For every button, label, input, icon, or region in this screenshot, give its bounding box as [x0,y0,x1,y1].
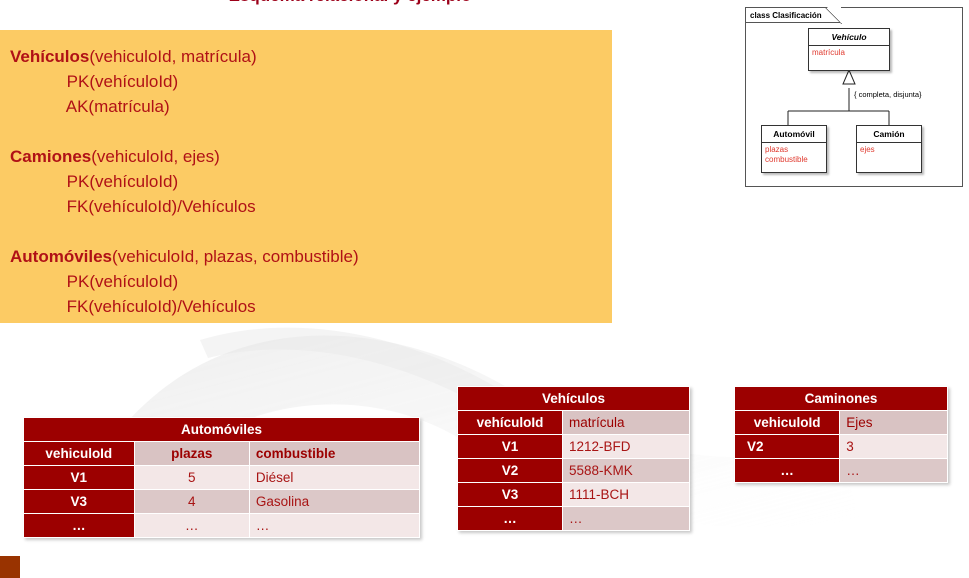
cell-value: … [563,507,689,530]
schema-line: PK(vehículoId) [10,69,612,94]
cell-value: 1111-BCH [563,483,689,506]
uml-class-attributes: matrícula [809,46,889,60]
table-row: V1 5 Diésel [24,466,419,489]
schema-line: Camiones(vehiculoId, ejes) [10,144,612,169]
cell-value: … [135,514,249,537]
cell-value: … [840,459,947,482]
table-header-row: vehiculoId plazas combustible [24,442,419,465]
uml-class-camion: Camión ejes [856,125,922,173]
table-title-row: Caminones [735,387,947,410]
relation-attrs: FK(vehículoId)/Vehículos [10,297,256,316]
cell-key: … [735,459,839,482]
column-header-vehiculoid: vehiculoId [24,442,134,465]
table-row: V1 1212-BFD [458,435,689,458]
column-header-plazas: plazas [135,442,249,465]
column-header-matricula: matrícula [563,411,689,434]
table-vehiculos: Vehículos vehículoId matrícula V1 1212-B… [457,386,690,531]
cell-value: Gasolina [250,490,419,513]
uml-class-vehiculo: Vehículo matrícula [808,28,890,71]
schema-line: PK(vehículoId) [10,169,612,194]
table-row: V3 4 Gasolina [24,490,419,513]
cell-value: 3 [840,435,947,458]
schema-spacer [10,119,612,144]
cell-value: 1212-BFD [563,435,689,458]
cell-key: … [24,514,134,537]
cell-key: V3 [24,490,134,513]
relation-attrs: (vehiculoId, ejes) [91,147,220,166]
relation-name: Camiones [10,147,91,166]
table-row: … … [735,459,947,482]
relation-attrs: FK(vehículoId)/Vehículos [10,197,256,216]
cell-key: V2 [458,459,562,482]
table-header-row: vehiculoId Ejes [735,411,947,434]
schema-line: Automóviles(vehiculoId, plazas, combusti… [10,244,612,269]
cell-value: 4 [135,490,249,513]
relational-schema-panel: Vehículos(vehiculoId, matrícula) PK(vehí… [0,30,612,323]
schema-spacer [10,219,612,244]
table-title-row: Vehículos [458,387,689,410]
column-header-vehiculoid: vehiculoId [735,411,839,434]
uml-attribute: combustible [765,155,823,165]
uml-constraint-label: { completa, disjunta} [854,90,922,99]
table-row: … … … [24,514,419,537]
uml-attribute: ejes [860,145,918,155]
cell-value: … [250,514,419,537]
table-title: Caminones [735,387,947,410]
uml-attribute: matrícula [812,48,886,58]
table-title-row: Automóviles [24,418,419,441]
uml-class-name: Camión [857,126,921,143]
uml-class-attributes: ejes [857,143,921,157]
table-caminones: Caminones vehiculoId Ejes V2 3 … … [734,386,948,483]
uml-class-attributes: plazas combustible [762,143,826,166]
relation-name: Vehículos [10,47,89,66]
relation-attrs: (vehiculoId, matrícula) [89,47,256,66]
schema-line: FK(vehículoId)/Vehículos [10,194,612,219]
table-title: Vehículos [458,387,689,410]
corner-accent-block [0,556,20,578]
relation-attrs: PK(vehículoId) [10,72,178,91]
cell-key: V2 [735,435,839,458]
schema-line: AK(matrícula) [10,94,612,119]
cell-key: … [458,507,562,530]
relation-name: Automóviles [10,247,112,266]
table-row: V2 5588-KMK [458,459,689,482]
schema-line: PK(vehículoId) [10,269,612,294]
column-header-ejes: Ejes [840,411,947,434]
table-header-row: vehículoId matrícula [458,411,689,434]
column-header-combustible: combustible [250,442,419,465]
cell-value: 5588-KMK [563,459,689,482]
cell-value: Diésel [250,466,419,489]
cell-key: V3 [458,483,562,506]
schema-line: FK(vehículoId)/Vehículos [10,294,612,319]
schema-line: Vehículos(vehiculoId, matrícula) [10,44,612,69]
uml-class-diagram: class Clasificación Vehículo matrícula {… [745,7,963,187]
table-row: … … [458,507,689,530]
page-title: Esquema relacional y ejemplo [0,0,700,6]
table-automoviles: Automóviles vehiculoId plazas combustibl… [23,417,420,538]
cell-key: V1 [458,435,562,458]
uml-class-name: Vehículo [809,29,889,46]
slide-canvas: Esquema relacional y ejemplo Vehículos(v… [0,0,969,578]
table-title: Automóviles [24,418,419,441]
column-header-vehiculoid: vehículoId [458,411,562,434]
table-row: V2 3 [735,435,947,458]
uml-class-automovil: Automóvil plazas combustible [761,125,827,173]
cell-value: 5 [135,466,249,489]
relation-attrs: PK(vehículoId) [10,172,178,191]
table-row: V3 1111-BCH [458,483,689,506]
uml-attribute: plazas [765,145,823,155]
relation-attrs: (vehiculoId, plazas, combustible) [112,247,359,266]
uml-class-name: Automóvil [762,126,826,143]
cell-key: V1 [24,466,134,489]
relation-attrs: PK(vehículoId) [10,272,178,291]
relation-attrs: AK(matrícula) [10,97,170,116]
